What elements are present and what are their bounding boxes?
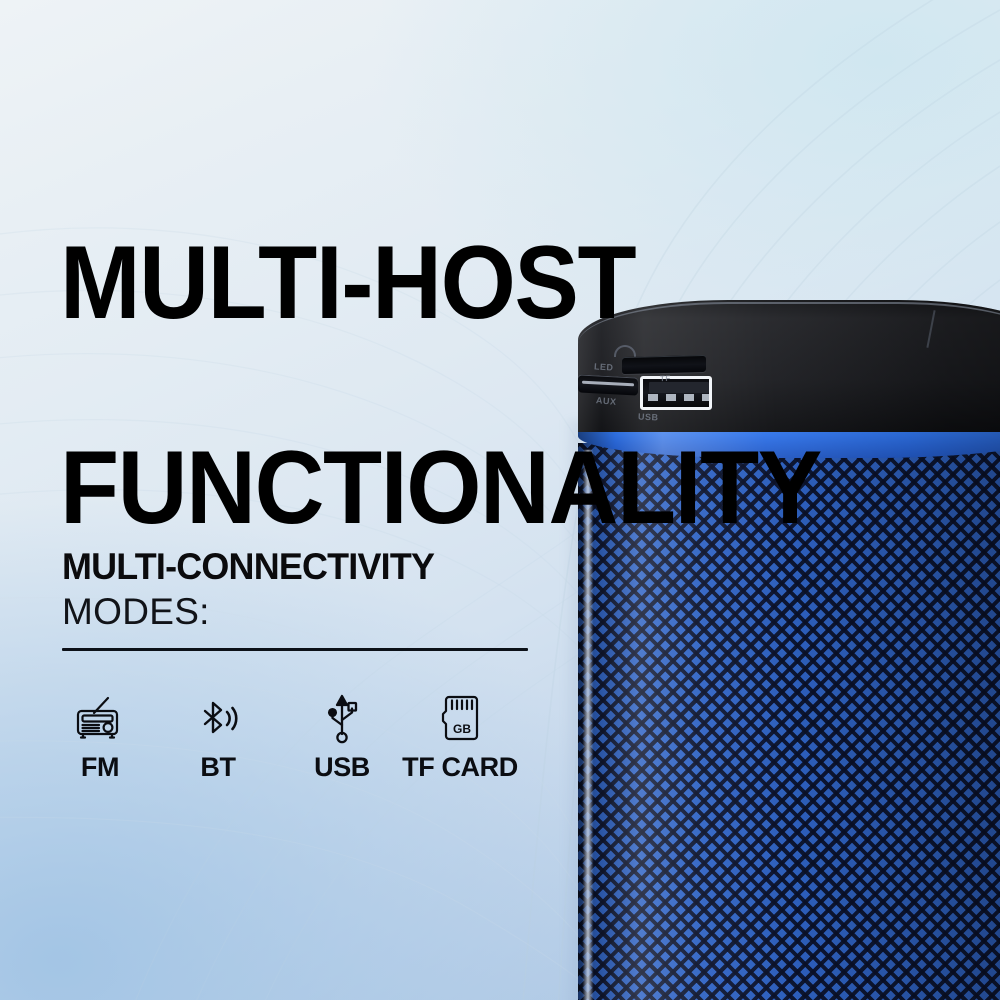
mode-label-tf-card: TF CARD xyxy=(402,752,518,783)
mode-label-fm: FM xyxy=(81,752,119,783)
product-feature-poster: LED AUX USB TF MULTI-HOST FUNCTIONALITY … xyxy=(0,0,1000,1000)
section-title: MULTI-CONNECTIVITY xyxy=(62,548,518,585)
mode-label-bt: BT xyxy=(200,752,235,783)
sd-card-icon: GB xyxy=(437,692,483,746)
connectivity-section: MULTI-CONNECTIVITY MODES: xyxy=(62,548,532,651)
sd-card-gb-text: GB xyxy=(453,722,471,736)
mode-item-tf-card: GB TF CARD xyxy=(422,692,498,783)
connectivity-modes-row: FM BT xyxy=(62,692,562,783)
headline-line-1: MULTI-HOST xyxy=(60,232,888,334)
section-divider xyxy=(62,648,528,651)
usb-icon xyxy=(321,692,363,746)
headline-line-2: FUNCTIONALITY xyxy=(60,437,888,539)
mode-label-usb: USB xyxy=(314,752,370,783)
bluetooth-icon xyxy=(195,692,241,746)
mode-item-bt: BT xyxy=(180,692,256,783)
mode-item-usb: USB xyxy=(304,692,380,783)
mode-item-fm: FM xyxy=(62,692,138,783)
radio-icon xyxy=(75,692,125,746)
section-subtitle: MODES: xyxy=(62,593,532,630)
